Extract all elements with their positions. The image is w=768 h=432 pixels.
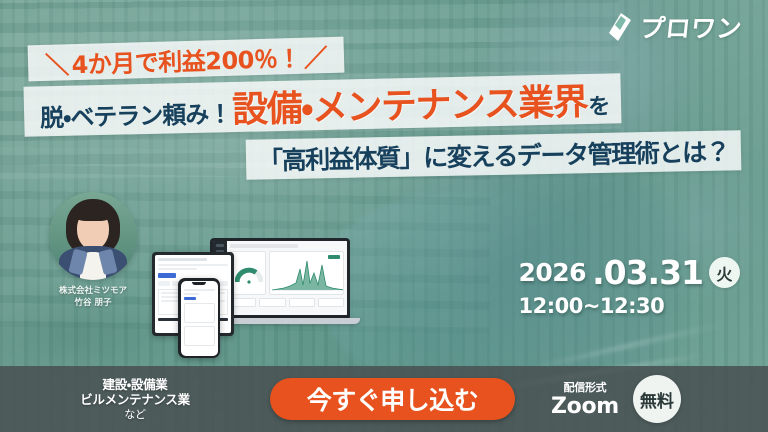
phone-line	[184, 293, 200, 295]
schedule-date-row: 2026 .03.31 火	[518, 253, 740, 292]
speaker-block: 株式会社ミツモア 竹谷 朋子	[32, 192, 154, 309]
price-badge: 無料	[633, 375, 681, 423]
target-audience-line-3: など	[0, 408, 270, 421]
headline-line-2-prefix: 脱・ベテラン頼み！	[40, 94, 232, 133]
phone-card	[184, 303, 215, 323]
brand-logo-text: プロワン	[638, 9, 744, 45]
headline-line-2-emphasis: 設備・メンテナンス業界	[232, 73, 588, 133]
headline-slash-close: ／	[300, 43, 330, 72]
dashboard-metric-row	[230, 298, 344, 307]
schedule-time: 12:00~12:30	[518, 294, 740, 318]
tablet-line	[158, 268, 197, 270]
avatar	[49, 192, 137, 280]
gauge-chart-icon	[235, 264, 263, 284]
flag-diamond-icon	[607, 12, 633, 42]
phone-screen	[181, 281, 218, 356]
speaker-meta: 株式会社ミツモア 竹谷 朋子	[32, 286, 154, 309]
brand-logo[interactable]: プロワン	[607, 9, 742, 45]
target-audience-line-2: ビルメンテナンス業	[0, 392, 270, 407]
avatar-fringe	[75, 206, 111, 221]
delivery-format-value: Zoom	[551, 394, 619, 419]
dashboard-chart-card	[269, 251, 344, 295]
phone-line	[184, 289, 215, 291]
target-audience: 建設・設備業 ビルメンテナンス業 など	[0, 377, 270, 421]
webinar-banner: プロワン ＼4か月で利益200％！／ 脱・ベテラン頼み！設備・メンテナンス業界を…	[0, 0, 768, 432]
headline-line-1-text: 4か月で利益200％！	[71, 44, 301, 78]
delivery-format: 配信形式 Zoom	[551, 379, 619, 419]
schedule-day-of-week-badge: 火	[709, 257, 740, 288]
phone-card	[184, 326, 215, 346]
dashboard-cards	[230, 251, 344, 295]
dashboard-gauge-card	[230, 251, 266, 295]
headline-band-3: 「高利益体質」に変えるデータ管理術とは？	[246, 130, 742, 180]
schedule-year: 2026	[518, 258, 586, 287]
schedule-block: 2026 .03.31 火 12:00~12:30	[518, 253, 740, 318]
tablet-accent-bar	[158, 273, 176, 278]
headline-band-2: 脱・ベテラン頼み！設備・メンテナンス業界を	[24, 73, 622, 137]
area-spike-chart	[272, 259, 344, 291]
tablet-line	[158, 264, 228, 266]
phone-accent	[184, 297, 196, 300]
tablet-header	[158, 258, 207, 261]
headline-line-2: 脱・ベテラン頼み！設備・メンテナンス業界を	[39, 73, 609, 138]
dashboard-metric	[289, 298, 315, 307]
phone-notch	[192, 282, 206, 285]
dashboard-metric	[318, 298, 344, 307]
delivery-format-label: 配信形式	[551, 379, 619, 395]
dashboard-titlebar	[230, 244, 298, 248]
headline-line-3: 「高利益体質」に変えるデータ管理術とは？	[258, 132, 730, 177]
headline-slash-open: ＼	[42, 51, 72, 80]
headline-band-1: ＼4か月で利益200％！／	[28, 37, 345, 82]
dashboard-metric	[259, 298, 285, 307]
dashboard-main	[227, 241, 347, 315]
speaker-company: 株式会社ミツモア	[32, 286, 154, 298]
device-mockups	[152, 234, 357, 360]
apply-now-button[interactable]: 今すぐ申し込む	[270, 378, 515, 420]
schedule-month-day: .03.31	[592, 253, 703, 292]
footer-bar: 建設・設備業 ビルメンテナンス業 など 今すぐ申し込む 配信形式 Zoom 無料	[0, 366, 768, 432]
headline-line-2-suffix: を	[588, 89, 610, 121]
target-audience-line-1: 建設・設備業	[0, 377, 270, 392]
phone-mockup	[178, 278, 220, 358]
headline-line-1: ＼4か月で利益200％！／	[42, 37, 331, 80]
speaker-name: 竹谷 朋子	[32, 298, 154, 310]
